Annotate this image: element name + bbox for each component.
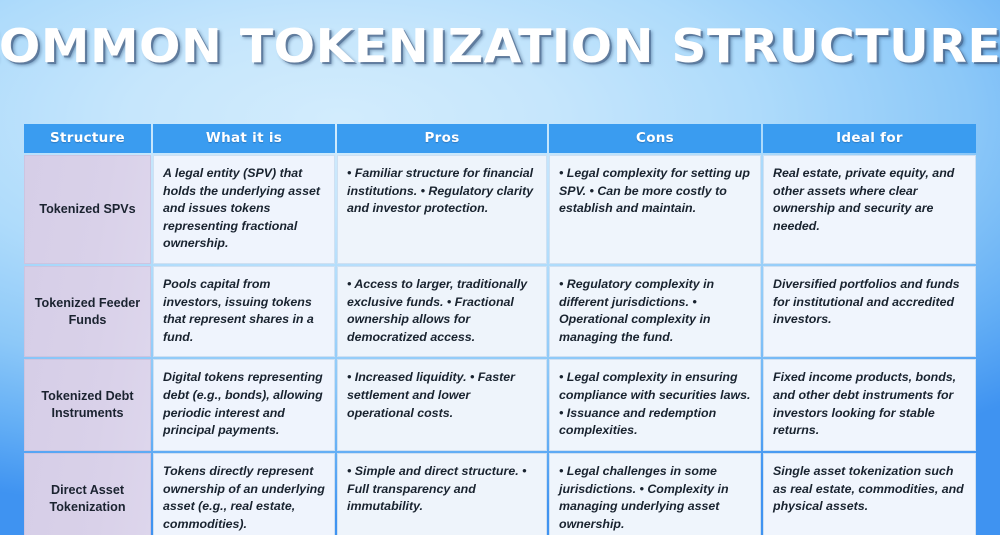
cell-structure: Tokenized Feeder Funds xyxy=(24,266,151,357)
table-body: Tokenized SPVs A legal entity (SPV) that… xyxy=(24,155,976,535)
cell-ideal-for: Single asset tokenization such as real e… xyxy=(763,453,976,535)
pros-text: • Familiar structure for financial insti… xyxy=(347,165,537,218)
ideal-for-text: Diversified portfolios and funds for ins… xyxy=(773,276,966,329)
cons-text: • Legal challenges in some jurisdictions… xyxy=(559,463,751,533)
cell-structure: Direct Asset Tokenization xyxy=(24,453,151,535)
tokenization-structures-table: Structure What it is Pros Cons Ideal for… xyxy=(22,122,978,535)
column-header-cons: Cons xyxy=(549,124,761,153)
cell-structure: Tokenized SPVs xyxy=(24,155,151,264)
table-row: Tokenized Debt Instruments Digital token… xyxy=(24,359,976,450)
structure-name: Tokenized Debt Instruments xyxy=(31,388,144,422)
table-row: Tokenized SPVs A legal entity (SPV) that… xyxy=(24,155,976,264)
pros-text: • Access to larger, traditionally exclus… xyxy=(347,276,537,346)
cell-pros: • Increased liquidity. • Faster settleme… xyxy=(337,359,547,450)
title-banner: COMMON TOKENIZATION STRUCTURES xyxy=(0,12,1000,80)
cell-pros: • Access to larger, traditionally exclus… xyxy=(337,266,547,357)
cell-pros: • Simple and direct structure. • Full tr… xyxy=(337,453,547,535)
cell-cons: • Legal complexity for setting up SPV. •… xyxy=(549,155,761,264)
column-header-pros: Pros xyxy=(337,124,547,153)
cons-text: • Legal complexity for setting up SPV. •… xyxy=(559,165,751,218)
pros-text: • Increased liquidity. • Faster settleme… xyxy=(347,369,537,422)
structure-name: Tokenized SPVs xyxy=(31,201,144,218)
what-it-is-text: A legal entity (SPV) that holds the unde… xyxy=(163,165,325,253)
structure-name: Direct Asset Tokenization xyxy=(31,482,144,516)
cell-cons: • Legal complexity in ensuring complianc… xyxy=(549,359,761,450)
table-header: Structure What it is Pros Cons Ideal for xyxy=(24,124,976,153)
column-header-ideal-for: Ideal for xyxy=(763,124,976,153)
cell-cons: • Regulatory complexity in different jur… xyxy=(549,266,761,357)
cell-ideal-for: Diversified portfolios and funds for ins… xyxy=(763,266,976,357)
cell-structure: Tokenized Debt Instruments xyxy=(24,359,151,450)
cell-cons: • Legal challenges in some jurisdictions… xyxy=(549,453,761,535)
page-title: COMMON TOKENIZATION STRUCTURES xyxy=(0,23,1000,69)
structure-name: Tokenized Feeder Funds xyxy=(31,295,144,329)
ideal-for-text: Fixed income products, bonds, and other … xyxy=(773,369,966,439)
what-it-is-text: Pools capital from investors, issuing to… xyxy=(163,276,325,346)
table-row: Tokenized Feeder Funds Pools capital fro… xyxy=(24,266,976,357)
what-it-is-text: Digital tokens representing debt (e.g., … xyxy=(163,369,325,439)
tokenization-structures-table-container: Structure What it is Pros Cons Ideal for… xyxy=(22,122,978,535)
cons-text: • Legal complexity in ensuring complianc… xyxy=(559,369,751,439)
cell-what-it-is: Digital tokens representing debt (e.g., … xyxy=(153,359,335,450)
pros-text: • Simple and direct structure. • Full tr… xyxy=(347,463,537,516)
ideal-for-text: Real estate, private equity, and other a… xyxy=(773,165,966,235)
cell-ideal-for: Fixed income products, bonds, and other … xyxy=(763,359,976,450)
cell-what-it-is: Pools capital from investors, issuing to… xyxy=(153,266,335,357)
table-row: Direct Asset Tokenization Tokens directl… xyxy=(24,453,976,535)
what-it-is-text: Tokens directly represent ownership of a… xyxy=(163,463,325,533)
column-header-structure: Structure xyxy=(24,124,151,153)
column-header-what-it-is: What it is xyxy=(153,124,335,153)
ideal-for-text: Single asset tokenization such as real e… xyxy=(773,463,966,516)
cell-pros: • Familiar structure for financial insti… xyxy=(337,155,547,264)
cons-text: • Regulatory complexity in different jur… xyxy=(559,276,751,346)
cell-what-it-is: Tokens directly represent ownership of a… xyxy=(153,453,335,535)
cell-ideal-for: Real estate, private equity, and other a… xyxy=(763,155,976,264)
table-header-row: Structure What it is Pros Cons Ideal for xyxy=(24,124,976,153)
cell-what-it-is: A legal entity (SPV) that holds the unde… xyxy=(153,155,335,264)
